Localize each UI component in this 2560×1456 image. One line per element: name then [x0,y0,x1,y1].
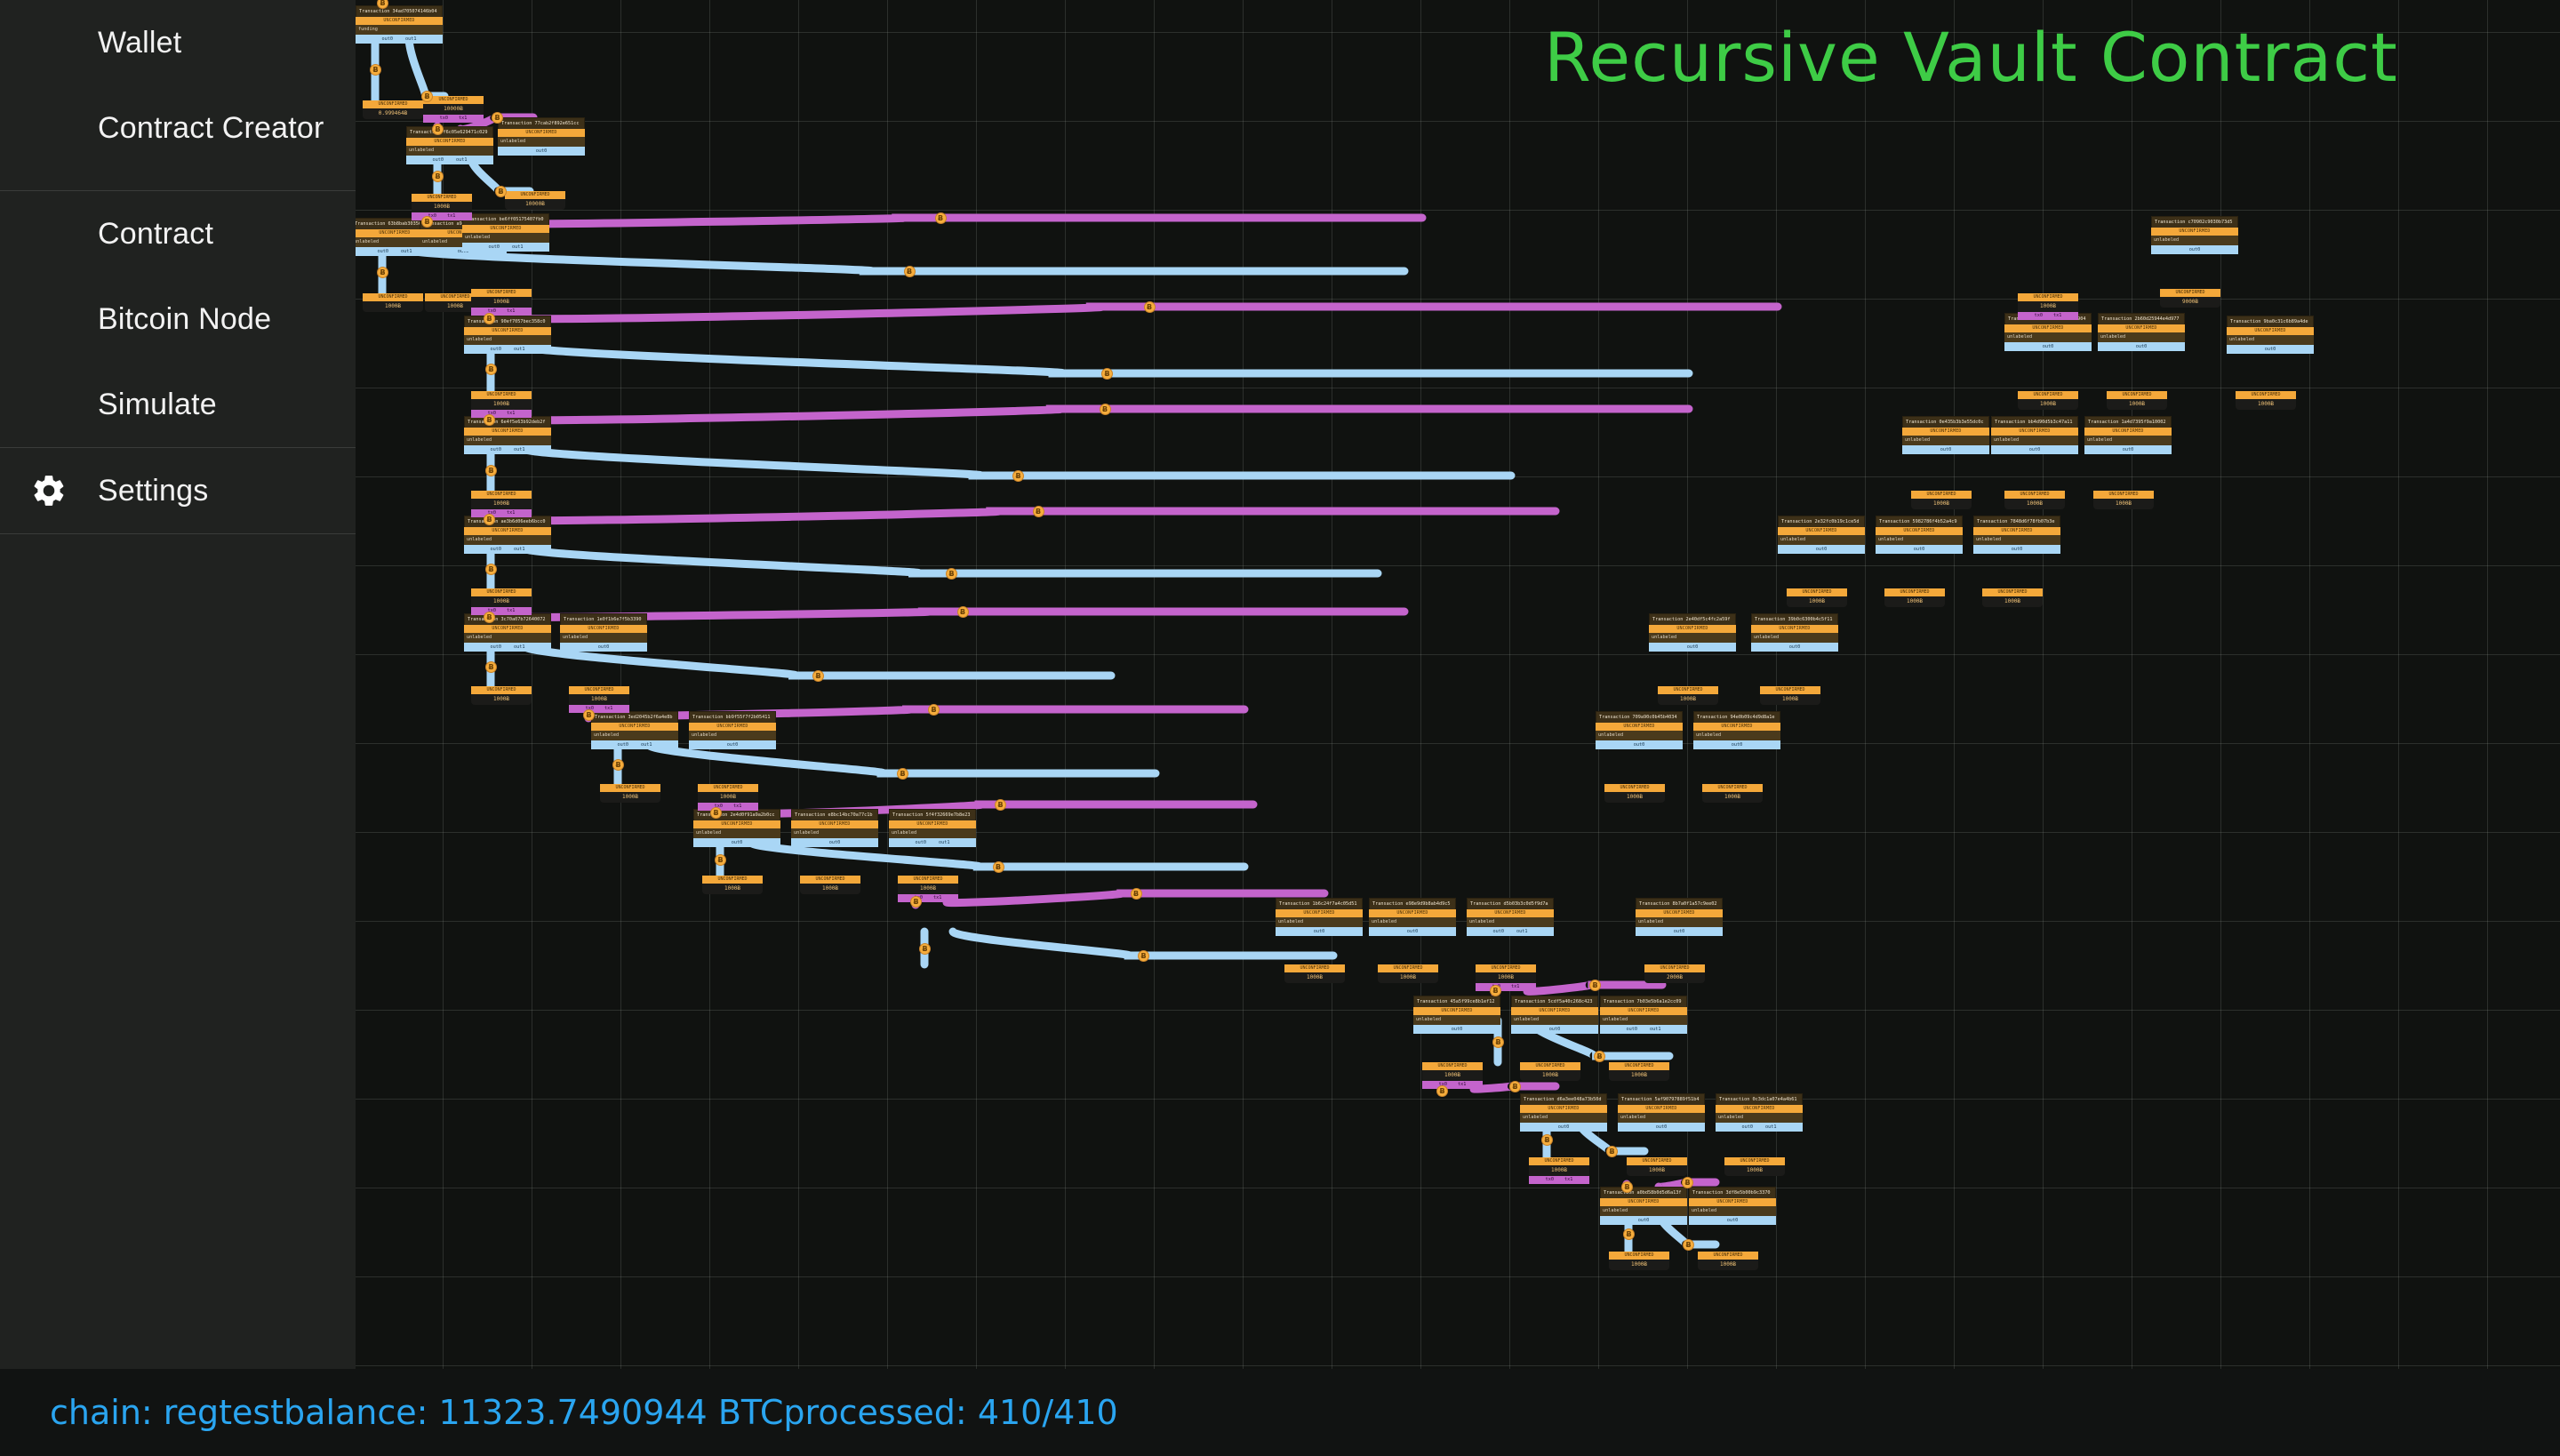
status-badge: UNCONFIRMED [2151,228,2238,236]
transaction-hash: Transaction 2e32fc0b19c1ce5d [1778,516,1865,527]
transaction-node[interactable]: Transaction 5af90797889f51b4UNCONFIRMEDu… [1618,1093,1705,1132]
transaction-label: unlabeled [1902,436,1989,445]
edge-coin-marker: Ƀ [1101,368,1113,380]
transaction-hash: Transaction 34ad705074146b04 [356,5,443,17]
output-spends-row[interactable]: tx0tx1 [898,894,958,902]
output-port[interactable]: out0 [378,247,389,256]
transaction-node[interactable]: Transaction 7848d6f78fb07b3eUNCONFIRMEDu… [1973,516,2060,554]
transaction-outputs-row[interactable]: out0 [1369,927,1456,936]
output-port[interactable]: out1 [405,35,417,44]
spend-port[interactable]: tx1 [1564,1176,1572,1184]
output-port[interactable]: out1 [1516,927,1528,936]
output-port[interactable]: out0 [433,156,444,164]
output-port[interactable]: out0 [2265,345,2276,354]
output-port[interactable]: out0 [1940,445,1952,454]
transaction-node[interactable]: Transaction 0c3dc1a07e4a4b61UNCONFIRMEDu… [1716,1093,1803,1132]
output-port[interactable]: out0 [1687,643,1699,652]
output-port[interactable]: out0 [1727,1216,1739,1225]
transaction-outputs-row[interactable]: out0out1 [1716,1123,1803,1132]
output-port[interactable]: out1 [514,445,525,454]
output-port[interactable]: out0 [2123,445,2134,454]
transaction-outputs-row[interactable]: out0out1 [356,35,443,44]
transaction-node[interactable]: Transaction a0bd58b0d5d6a13fUNCONFIRMEDu… [1600,1187,1687,1225]
output-port[interactable]: out0 [1634,740,1645,749]
output-node[interactable]: UNCONFIRMED1000Ƀ [1604,784,1665,803]
output-node[interactable]: UNCONFIRMED1000Ƀ [2093,491,2154,509]
output-port[interactable]: out0 [2012,545,2023,554]
status-badge: UNCONFIRMED [2236,391,2296,399]
gear-icon [0,472,98,509]
transaction-label: funding [356,25,443,35]
transaction-outputs-row[interactable]: out0 [693,838,780,847]
output-port[interactable]: out0 [1742,1123,1754,1132]
spend-port[interactable]: tx0 [1546,1176,1554,1184]
spend-port[interactable]: tx1 [604,705,612,713]
output-node[interactable]: UNCONFIRMED1000Ƀtx0tx1 [471,588,532,615]
edge-coin-marker: Ƀ [495,186,507,197]
output-node[interactable]: UNCONFIRMED1000Ƀ [1702,784,1763,803]
status-badge: UNCONFIRMED [462,225,549,233]
transaction-outputs-row[interactable]: out0 [2151,245,2238,254]
sidebar-item-wallet[interactable]: Wallet [0,0,356,85]
output-node[interactable]: UNCONFIRMED1000Ƀ [702,876,763,894]
output-port[interactable]: out1 [939,838,950,847]
output-port[interactable]: out0 [1493,927,1505,936]
transaction-outputs-row[interactable]: out0 [2084,445,2172,454]
output-amount: 1000Ƀ [1609,1260,1669,1270]
output-node[interactable]: UNCONFIRMED1000Ƀ [471,686,532,705]
sidebar-item-contract-creator[interactable]: Contract Creator [0,85,356,171]
transaction-outputs-row[interactable]: out0 [1511,1025,1598,1034]
spend-port[interactable]: tx1 [2053,312,2061,320]
transaction-label: unlabeled [2004,332,2092,342]
status-badge: UNCONFIRMED [569,686,629,694]
output-node[interactable]: UNCONFIRMED1000Ƀtx0tx1 [471,491,532,517]
output-node[interactable]: UNCONFIRMED10000Ƀtx0tx1 [423,96,484,123]
output-port[interactable]: out1 [514,643,525,652]
spend-port[interactable]: tx1 [447,212,455,220]
output-port[interactable]: out0 [2043,342,2054,351]
edge-coin-marker: Ƀ [484,514,495,525]
transaction-label: unlabeled [889,828,976,838]
output-port[interactable]: out1 [514,345,525,354]
output-spends-row[interactable]: tx0tx1 [2018,312,2078,320]
transaction-hash: Transaction be6ff05175407fb0 [462,213,549,225]
output-amount: 10000Ƀ [423,104,484,115]
transaction-outputs-row[interactable]: out0out1 [406,156,493,164]
output-spends-row[interactable]: tx0tx1 [471,509,532,517]
output-port[interactable]: out0 [491,545,502,554]
output-node[interactable]: UNCONFIRMED1000Ƀ [363,293,423,312]
sidebar-item-contract[interactable]: Contract [0,191,356,276]
output-node[interactable]: UNCONFIRMED0.999464Ƀ [363,100,423,119]
transaction-label: unlabeled [1991,436,2078,445]
output-node[interactable]: UNCONFIRMED1000Ƀ [1658,686,1718,705]
spend-port[interactable]: tx1 [1458,1081,1466,1089]
transaction-node[interactable]: Transaction 90ef7057bec358c0UNCONFIRMEDu… [464,316,551,354]
transaction-outputs-row[interactable]: out0 [560,643,647,652]
output-node[interactable]: UNCONFIRMED1000Ƀtx0tx1 [898,876,958,902]
transaction-hash: Transaction 2e40df5c4fc2a59f [1649,613,1736,625]
output-node[interactable]: UNCONFIRMED1000Ƀtx0tx1 [569,686,629,713]
output-node[interactable]: UNCONFIRMED1000Ƀ [1911,491,1972,509]
output-node[interactable]: UNCONFIRMED1000Ƀtx0tx1 [2018,293,2078,320]
transaction-outputs-row[interactable]: out0 [1991,445,2078,454]
transaction-outputs-row[interactable]: out0 [1520,1123,1607,1132]
transaction-outputs-row[interactable]: out0out1 [1600,1025,1687,1034]
transaction-hash: Transaction 45a5f99ce8b1ef12 [1413,996,1500,1007]
transaction-label: unlabeled [1636,917,1723,927]
output-amount: 1000Ƀ [2093,499,2154,509]
transaction-node[interactable]: Transaction 3df8e5b00b9c3370UNCONFIRMEDu… [1689,1187,1776,1225]
edge-coin-marker: Ƀ [715,854,726,866]
transaction-node[interactable]: Transaction 3ed2045b2f6a4e8bUNCONFIRMEDu… [591,711,678,749]
output-port[interactable]: out0 [618,740,629,749]
output-amount: 0.999464Ƀ [363,108,423,119]
transaction-node[interactable]: Transaction f6c05e629471c029UNCONFIRMEDu… [406,126,493,164]
edge-coin-marker: Ƀ [377,267,388,278]
spend-port[interactable]: tx1 [507,410,515,418]
spend-port[interactable]: tx1 [507,509,515,517]
output-port[interactable]: out0 [1407,927,1419,936]
output-node[interactable]: UNCONFIRMED1000Ƀ [2018,391,2078,410]
output-amount: 1000Ƀ [363,301,423,312]
transaction-outputs-row[interactable]: out0 [1689,1216,1776,1225]
transaction-outputs-row[interactable]: out0out1 [464,545,551,554]
output-port[interactable]: out1 [1650,1025,1661,1034]
transaction-node[interactable]: Transaction 94e0b09c4d9d8a1eUNCONFIRMEDu… [1693,711,1780,749]
status-badge: UNCONFIRMED [1604,784,1665,792]
output-node[interactable]: UNCONFIRMED1000Ƀtx0tx1 [471,391,532,418]
output-port[interactable]: out0 [1656,1123,1668,1132]
output-port[interactable]: out0 [1674,927,1685,936]
transaction-node[interactable]: Transaction d5b03b3c0d5f9d7aUNCONFIRMEDu… [1467,898,1554,936]
output-spends-row[interactable]: tx0tx1 [423,115,484,123]
transaction-outputs-row[interactable]: out0 [1600,1216,1687,1225]
output-node[interactable]: UNCONFIRMED1000Ƀ [1284,964,1345,983]
transaction-outputs-row[interactable]: out0 [498,147,585,156]
spend-port[interactable]: tx1 [459,115,467,123]
transaction-label: unlabeled [1689,1206,1776,1216]
transaction-node[interactable]: Transaction be6ff05175407fb0UNCONFIRMEDu… [462,213,549,252]
status-badge: UNCONFIRMED [1520,1105,1607,1113]
edge-coin-marker: Ƀ [897,768,908,780]
output-node[interactable]: UNCONFIRMED1000Ƀ [2107,391,2167,410]
transaction-node[interactable]: Transaction 1a4d7395f9a10002UNCONFIRMEDu… [2084,416,2172,454]
output-node[interactable]: UNCONFIRMED1000Ƀ [1724,1157,1785,1176]
status-badge: UNCONFIRMED [1778,527,1865,535]
transaction-label: unlabeled [406,146,493,156]
transaction-node[interactable]: Transaction 34ad705074146b04UNCONFIRMEDf… [356,5,443,44]
transaction-node[interactable]: Transaction 1e0f1b6e7f5b3390UNCONFIRMEDu… [560,613,647,652]
output-node[interactable]: UNCONFIRMED1000Ƀ [1378,964,1438,983]
output-port[interactable]: out0 [1816,545,1828,554]
output-node[interactable]: UNCONFIRMED1000Ƀtx0tx1 [698,784,758,811]
sidebar-item-simulate[interactable]: Simulate [0,362,356,447]
spend-port[interactable]: tx1 [507,308,515,316]
output-port[interactable]: out1 [401,247,412,256]
transaction-node[interactable]: Transaction d6a3ee048a73b50dUNCONFIRMEDu… [1520,1093,1607,1132]
output-node[interactable]: UNCONFIRMED10000Ƀ [505,191,565,210]
output-port[interactable]: out0 [727,740,739,749]
output-node[interactable]: UNCONFIRMED1000Ƀ [1698,1252,1758,1270]
output-port[interactable]: out0 [1732,740,1743,749]
transaction-node[interactable]: Transaction e98e9d9b8ab4d9c5UNCONFIRMEDu… [1369,898,1456,936]
status-badge: UNCONFIRMED [2107,391,2167,399]
sidebar-group-tools: Contract Bitcoin Node Simulate [0,191,356,448]
status-badge: UNCONFIRMED [1276,909,1363,917]
status-badge: UNCONFIRMED [1511,1007,1598,1015]
transaction-node[interactable]: Transaction 3c70a07b72640072UNCONFIRMEDu… [464,613,551,652]
transaction-node[interactable]: Transaction e8bc14bc70a77c1bUNCONFIRMEDu… [791,809,878,847]
transaction-outputs-row[interactable]: out0 [2098,342,2185,351]
transaction-label: unlabeled [791,828,878,838]
output-port[interactable]: out0 [1452,1025,1463,1034]
transaction-label: unlabeled [1600,1015,1687,1025]
transaction-hash: Transaction 8b7a0f1a57c9ee02 [1636,898,1723,909]
status-badge: UNCONFIRMED [1649,625,1736,633]
output-spends-row[interactable]: tx0tx1 [1422,1081,1483,1089]
status-badge: UNCONFIRMED [1884,588,1945,596]
transaction-outputs-row[interactable]: out0out1 [1467,927,1554,936]
output-port[interactable]: out1 [641,740,652,749]
transaction-outputs-row[interactable]: out0 [1973,545,2060,554]
transaction-node[interactable]: Transaction 8b7a0f1a57c9ee02UNCONFIRMEDu… [1636,898,1723,936]
transaction-outputs-row[interactable]: out0out1 [464,445,551,454]
output-node[interactable]: UNCONFIRMED1000Ƀtx0tx1 [1422,1062,1483,1089]
transaction-hash: Transaction bb9f55f7f2b05411 [689,711,776,723]
output-node[interactable]: UNCONFIRMED1000Ƀ [2004,491,2065,509]
output-port[interactable]: out1 [456,156,468,164]
output-amount: 1000Ƀ [600,792,660,803]
output-port[interactable]: out0 [732,838,743,847]
status-badge: UNCONFIRMED [1982,588,2043,596]
output-node[interactable]: UNCONFIRMED1000Ƀ [1787,588,1847,607]
output-amount: 1000Ƀ [1724,1165,1785,1176]
output-port[interactable]: out0 [1549,1025,1561,1034]
transaction-outputs-row[interactable]: out0out1 [464,345,551,354]
transaction-outputs-row[interactable]: out0 [1778,545,1865,554]
status-badge: UNCONFIRMED [698,784,758,792]
output-amount: 1000Ƀ [471,694,532,705]
status-badge: UNCONFIRMED [1476,964,1536,972]
output-port[interactable]: out0 [1789,643,1801,652]
output-node[interactable]: UNCONFIRMED1000Ƀtx0tx1 [1476,964,1536,991]
output-node[interactable]: UNCONFIRMED2000Ƀ [1644,964,1705,983]
transaction-node[interactable]: Transaction 2e32fc0b19c1ce5dUNCONFIRMEDu… [1778,516,1865,554]
output-port[interactable]: out1 [1765,1123,1777,1132]
spend-port[interactable]: tx0 [2035,312,2043,320]
transaction-node[interactable]: Transaction 5982786f4b52a4c9UNCONFIRMEDu… [1876,516,1963,554]
sidebar-item-bitcoin-node[interactable]: Bitcoin Node [0,276,356,362]
edge-coin-marker: Ƀ [1509,1081,1521,1092]
transaction-node[interactable]: Transaction 45a5f99ce8b1ef12UNCONFIRMEDu… [1413,996,1500,1034]
transaction-outputs-row[interactable]: out0 [1596,740,1683,749]
output-spends-row[interactable]: tx0tx1 [569,705,629,713]
output-port[interactable]: out0 [489,243,500,252]
transaction-node[interactable]: Transaction 9ba0c31c6b89a4deUNCONFIRMEDu… [2227,316,2314,354]
status-badge: UNCONFIRMED [2160,289,2220,297]
transaction-node[interactable]: Transaction bb9f55f7f2b05411UNCONFIRMEDu… [689,711,776,749]
output-node[interactable]: UNCONFIRMED9000Ƀ [2160,289,2220,308]
graph-canvas[interactable]: Recursive Vault Contract ɃɃɃɃɃɃɃɃɃɃɃɃɃɃɃ… [356,0,2560,1369]
status-badge: UNCONFIRMED [464,428,551,436]
output-port[interactable]: out0 [2029,445,2041,454]
edge-coin-marker: Ƀ [710,807,722,819]
status-badge: UNCONFIRMED [2004,491,2065,499]
status-badge: UNCONFIRMED [498,129,585,137]
sidebar-item-label-settings: Settings [98,474,208,508]
transaction-node[interactable]: Transaction 39b0c6300b4c5f11UNCONFIRMEDu… [1751,613,1838,652]
transaction-outputs-row[interactable]: out0 [1751,643,1838,652]
transaction-outputs-row[interactable]: out0 [1636,927,1723,936]
transaction-outputs-row[interactable]: out0 [1276,927,1363,936]
status-badge: UNCONFIRMED [1609,1062,1669,1070]
transaction-node[interactable]: Transaction 5f4f32669e7b8e23UNCONFIRMEDu… [889,809,976,847]
sidebar-item-settings[interactable]: Settings [0,448,356,533]
edge-coin-marker: Ƀ [485,364,497,375]
output-spends-row[interactable]: tx0tx1 [1476,983,1536,991]
transaction-outputs-row[interactable]: out0out1 [889,838,976,847]
output-port[interactable]: out0 [2136,342,2148,351]
output-node[interactable]: UNCONFIRMED1000Ƀ [2236,391,2296,410]
output-node[interactable]: UNCONFIRMED1000Ƀ [1609,1062,1669,1081]
output-node[interactable]: UNCONFIRMED1000Ƀ [1520,1062,1580,1081]
status-badge: UNCONFIRMED [471,289,532,297]
output-amount: 1000Ƀ [1604,792,1665,803]
transaction-node[interactable]: Transaction bb4d90d5b3c47a11UNCONFIRMEDu… [1991,416,2078,454]
transaction-node[interactable]: Transaction ae3b6d06eeb6bcc0UNCONFIRMEDu… [464,516,551,554]
transaction-hash: Transaction e98e9d9b8ab4d9c5 [1369,898,1456,909]
output-node[interactable]: UNCONFIRMED1000Ƀ [600,784,660,803]
output-node[interactable]: UNCONFIRMED1000Ƀtx0tx1 [412,194,472,220]
output-port[interactable]: out0 [2189,245,2201,254]
transaction-outputs-row[interactable]: out0 [689,740,776,749]
spend-port[interactable]: tx1 [733,803,741,811]
status-badge: UNCONFIRMED [1627,1157,1687,1165]
transaction-label: unlabeled [498,137,585,147]
output-port[interactable]: out0 [1914,545,1925,554]
transaction-outputs-row[interactable]: out0out1 [462,243,549,252]
output-amount: 1000Ƀ [1520,1070,1580,1081]
output-port[interactable]: out1 [514,545,525,554]
output-spends-row[interactable]: tx0tx1 [698,803,758,811]
edge-coin-marker: Ƀ [1541,1134,1553,1146]
transaction-hash: Transaction bb4d90d5b3c47a11 [1991,416,2078,428]
status-badge: UNCONFIRMED [1413,1007,1500,1015]
spend-port[interactable]: tx1 [933,894,941,902]
output-node[interactable]: UNCONFIRMED1000Ƀ [1760,686,1820,705]
output-spends-row[interactable]: tx0tx1 [471,607,532,615]
transaction-node[interactable]: Transaction 2b60d25944e4d977UNCONFIRMEDu… [2098,313,2185,351]
output-port[interactable]: out0 [491,345,502,354]
transaction-label: unlabeled [464,633,551,643]
transaction-outputs-row[interactable]: out0 [1693,740,1780,749]
transaction-outputs-row[interactable]: out0 [1902,445,1989,454]
edge-coin-marker: Ƀ [1492,1036,1504,1048]
output-port[interactable]: out0 [1627,1025,1638,1034]
transaction-node[interactable]: Transaction 0e435b3b3e55dc0cUNCONFIRMEDu… [1902,416,1989,454]
output-node[interactable]: UNCONFIRMED1000Ƀtx0tx1 [471,289,532,316]
status-badge: UNCONFIRMED [1636,909,1723,917]
transaction-hash: Transaction 3df8e5b00b9c3370 [1689,1187,1776,1198]
output-port[interactable]: out0 [829,838,841,847]
output-port[interactable]: out0 [536,147,548,156]
transaction-outputs-row[interactable]: out0 [791,838,878,847]
output-node[interactable]: UNCONFIRMED1000Ƀ [800,876,860,894]
output-spends-row[interactable]: tx0tx1 [1529,1176,1589,1184]
spend-port[interactable]: tx1 [507,607,515,615]
output-node[interactable]: UNCONFIRMED1000Ƀ [1982,588,2043,607]
spend-port[interactable]: tx1 [1511,983,1519,991]
transaction-node[interactable]: Transaction 7b03e5b6a1e2cc09UNCONFIRMEDu… [1600,996,1687,1034]
transaction-node[interactable]: Transaction 709a90c0b45b4034UNCONFIRMEDu… [1596,711,1683,749]
output-port[interactable]: out0 [598,643,610,652]
output-amount: 1000Ƀ [2004,499,2065,509]
status-badge: UNCONFIRMED [591,723,678,731]
transaction-node[interactable]: Transaction 1b6c24f7a4c05d51UNCONFIRMEDu… [1276,898,1363,936]
transaction-hash: Transaction 39b0c6300b4c5f11 [1751,613,1838,625]
spend-port[interactable]: tx0 [440,115,448,123]
output-port[interactable]: out0 [491,445,502,454]
status-badge: UNCONFIRMED [2084,428,2172,436]
status-badge: UNCONFIRMED [1702,784,1763,792]
output-spends-row[interactable]: tx0tx1 [471,410,532,418]
transaction-node[interactable]: Transaction 2e4d0f91a9a2b0ccUNCONFIRMEDu… [693,809,780,847]
transaction-node[interactable]: Transaction 2e40df5c4fc2a59fUNCONFIRMEDu… [1649,613,1736,652]
transaction-outputs-row[interactable]: out0out1 [591,740,678,749]
output-port[interactable]: out0 [1558,1123,1570,1132]
edge-coin-marker: Ƀ [485,661,497,673]
transaction-outputs-row[interactable]: out0 [2227,345,2314,354]
output-node[interactable]: UNCONFIRMED1000Ƀ [1627,1157,1687,1176]
transaction-label: unlabeled [1596,731,1683,740]
transaction-outputs-row[interactable]: out0 [1649,643,1736,652]
transaction-node[interactable]: Transaction 77cab2f892e651ccUNCONFIRMEDu… [498,117,585,156]
output-node[interactable]: UNCONFIRMED1000Ƀ [1884,588,1945,607]
output-amount: 1000Ƀ [898,884,958,894]
sidebar-item-label-contract: Contract [98,217,213,252]
output-node[interactable]: UNCONFIRMED1000Ƀtx0tx1 [1529,1157,1589,1184]
transaction-outputs-row[interactable]: out0 [2004,342,2092,351]
transaction-node[interactable]: Transaction c70902c9030b73d5UNCONFIRMEDu… [2151,216,2238,254]
edge-coin-marker: Ƀ [1436,1085,1448,1097]
output-port[interactable]: out0 [916,838,927,847]
transaction-outputs-row[interactable]: out0 [1618,1123,1705,1132]
output-port[interactable]: out0 [1638,1216,1650,1225]
edge-coin-marker: Ƀ [995,799,1006,811]
output-port[interactable]: out1 [512,243,524,252]
transaction-outputs-row[interactable]: out0 [1876,545,1963,554]
transaction-node[interactable]: Transaction 6e4f5e63b92deb2fUNCONFIRMEDu… [464,416,551,454]
transaction-hash: Transaction 709a90c0b45b4034 [1596,711,1683,723]
transaction-label: unlabeled [1716,1113,1803,1123]
output-port[interactable]: out0 [382,35,394,44]
transaction-label: unlabeled [591,731,678,740]
output-spends-row[interactable]: tx0tx1 [471,308,532,316]
output-amount: 1000Ƀ [1609,1070,1669,1081]
transaction-node[interactable]: Transaction 5cdf5a40c268c423UNCONFIRMEDu… [1511,996,1598,1034]
status-badge: UNCONFIRMED [889,820,976,828]
output-port[interactable]: out0 [491,643,502,652]
transaction-hash: Transaction 5f4f32669e7b8e23 [889,809,976,820]
status-badge: UNCONFIRMED [2018,391,2078,399]
output-node[interactable]: UNCONFIRMED1000Ƀ [1609,1252,1669,1270]
output-port[interactable]: out0 [1314,927,1325,936]
transaction-outputs-row[interactable]: out0out1 [464,643,551,652]
output-spends-row[interactable]: tx0tx1 [412,212,472,220]
transaction-outputs-row[interactable]: out0 [1413,1025,1500,1034]
